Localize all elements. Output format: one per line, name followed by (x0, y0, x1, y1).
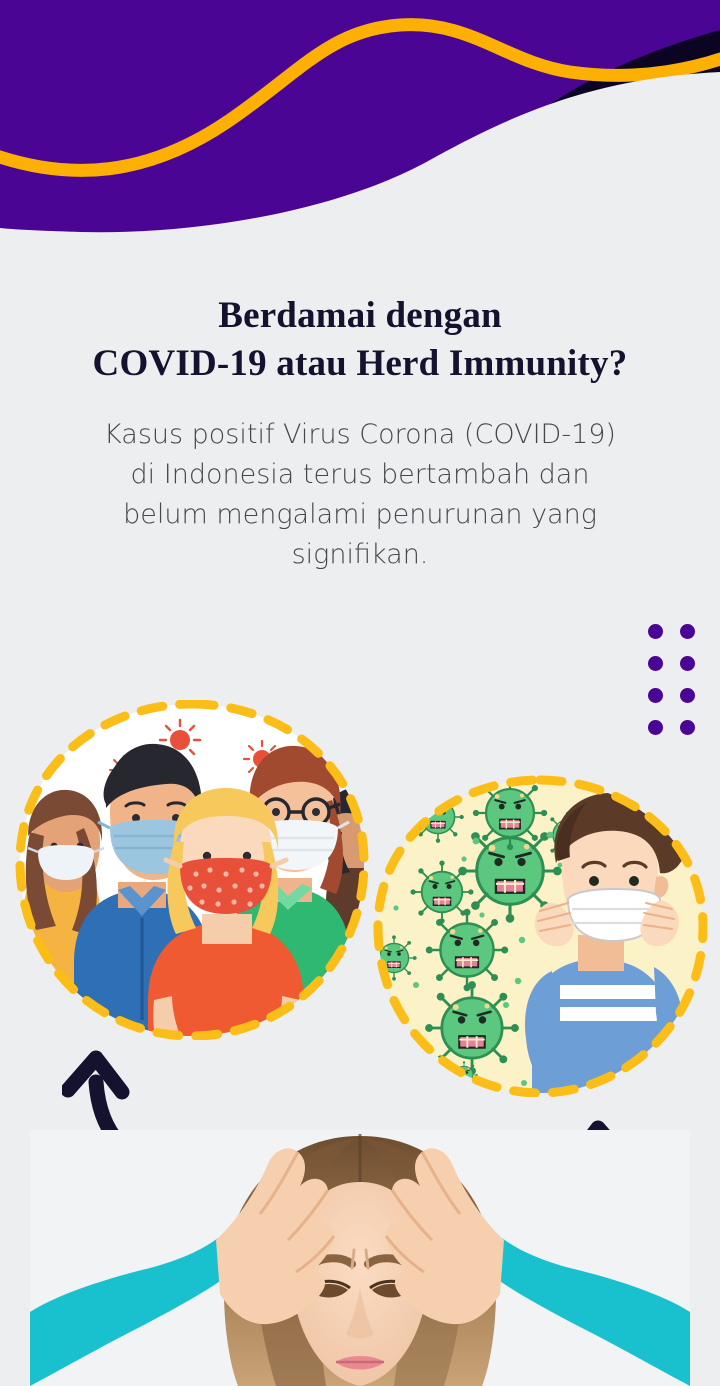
title-line-1: Berdamai dengan (0, 292, 720, 340)
green-virus-icon (410, 860, 473, 923)
boy-putting-on-mask-with-viruses-illustration (372, 775, 708, 1097)
page-title: Berdamai dengan COVID-19 atau Herd Immun… (0, 292, 720, 388)
decorative-wave-banner (0, 0, 720, 245)
subtitle-line-3: belum mengalami penurunan yang (36, 495, 684, 535)
grid-dot (680, 720, 695, 735)
infographic-poster: Berdamai dengan COVID-19 atau Herd Immun… (0, 0, 720, 1386)
crowd-wearing-masks-illustration (14, 700, 370, 1040)
grid-dot (648, 688, 663, 703)
subtitle-line-4: signifikan. (36, 535, 684, 575)
page-subtitle: Kasus positif Virus Corona (COVID-19) di… (36, 415, 684, 575)
grid-dot (680, 624, 695, 639)
title-line-2: COVID-19 atau Herd Immunity? (0, 340, 720, 388)
subtitle-line-1: Kasus positif Virus Corona (COVID-19) (36, 415, 684, 455)
stressed-woman-photo (30, 1130, 690, 1386)
purple-dot-grid (648, 624, 712, 752)
grid-dot (680, 688, 695, 703)
green-virus-icon (426, 909, 508, 991)
subtitle-line-2: di Indonesia terus bertambah dan (36, 455, 684, 495)
grid-dot (648, 720, 663, 735)
grid-dot (680, 656, 695, 671)
grid-dot (648, 624, 663, 639)
grid-dot (648, 656, 663, 671)
red-virus-dot (45, 755, 51, 761)
